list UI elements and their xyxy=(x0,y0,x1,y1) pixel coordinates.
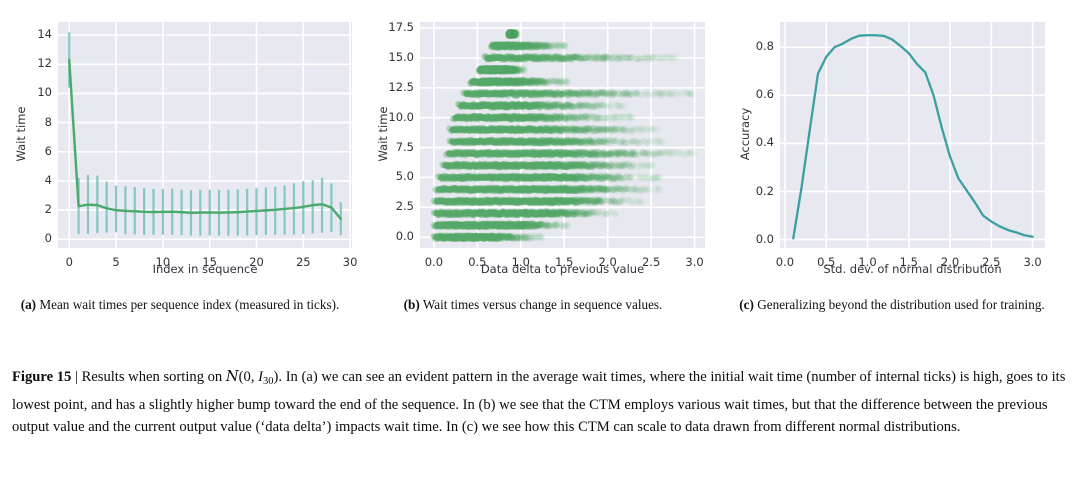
figure-caption-math-cal: N xyxy=(226,368,239,385)
panel-c-x-axis-label: Std. dev. of normal distribution xyxy=(780,262,1045,276)
subcaption-c-text: Generalizing beyond the distribution use… xyxy=(757,297,1045,312)
panel-a-plot-area xyxy=(58,22,352,248)
chart-panel-b: Wait time 0.02.55.07.510.012.515.017.5 0… xyxy=(360,0,705,290)
panel-c-svg xyxy=(780,22,1045,248)
y-tick-label: 5.0 xyxy=(374,169,414,183)
y-tick-label: 15.0 xyxy=(374,50,414,64)
chart-panel-c: Accuracy 0.00.20.40.60.8 0.00.51.01.52.0… xyxy=(705,0,1080,290)
y-tick-label: 0.4 xyxy=(734,135,774,149)
subcaption-b-tag: (b) xyxy=(404,297,420,312)
y-tick-label: 6 xyxy=(12,144,52,158)
figure-container: Wait time 02468101214 051015202530 Index… xyxy=(0,0,1080,498)
subcaption-c: (c) Generalizing beyond the distribution… xyxy=(712,296,1072,313)
y-tick-label: 10.0 xyxy=(374,110,414,124)
subcaption-b-text: Wait times versus change in sequence val… xyxy=(423,297,663,312)
panel-b-svg xyxy=(420,22,705,248)
y-tick-label: 2 xyxy=(12,202,52,216)
y-tick-label: 14 xyxy=(12,27,52,41)
panel-b-x-axis-label: Data delta to previous value xyxy=(420,262,705,276)
y-tick-label: 10 xyxy=(12,85,52,99)
y-tick-label: 0.0 xyxy=(374,229,414,243)
figure-caption-math-subscript: 30 xyxy=(263,376,274,387)
y-tick-label: 7.5 xyxy=(374,140,414,154)
chart-panel-a: Wait time 02468101214 051015202530 Index… xyxy=(0,0,360,290)
y-tick-label: 17.5 xyxy=(374,20,414,34)
subcaption-c-tag: (c) xyxy=(739,297,754,312)
y-tick-label: 12 xyxy=(12,56,52,70)
y-tick-label: 0.8 xyxy=(734,39,774,53)
subcaption-a-text: Mean wait times per sequence index (meas… xyxy=(39,297,339,312)
panel-c-y-axis-label: Accuracy xyxy=(738,21,752,247)
panels-row: Wait time 02468101214 051015202530 Index… xyxy=(0,0,1080,290)
figure-caption-math-rest: (0, xyxy=(239,369,258,385)
y-tick-label: 0 xyxy=(12,231,52,245)
y-tick-label: 8 xyxy=(12,115,52,129)
subcaption-a-tag: (a) xyxy=(21,297,36,312)
y-tick-label: 4 xyxy=(12,173,52,187)
panel-a-x-axis-label: Index in sequence xyxy=(58,262,352,276)
subcaption-b: (b) Wait times versus change in sequence… xyxy=(368,296,698,313)
y-tick-label: 0.2 xyxy=(734,184,774,198)
panel-c-plot-area xyxy=(780,22,1045,248)
figure-caption-part1: Results when sorting on xyxy=(82,369,226,385)
panel-b-plot-area xyxy=(420,22,705,248)
y-tick-label: 2.5 xyxy=(374,199,414,213)
panel-a-svg xyxy=(58,22,352,248)
y-tick-label: 12.5 xyxy=(374,80,414,94)
y-tick-label: 0.6 xyxy=(734,87,774,101)
figure-caption: Figure 15 | Results when sorting on N(0,… xyxy=(12,366,1068,439)
y-tick-label: 0.0 xyxy=(734,232,774,246)
figure-number: Figure 15 xyxy=(12,369,71,385)
subcaption-a: (a) Mean wait times per sequence index (… xyxy=(8,296,352,313)
